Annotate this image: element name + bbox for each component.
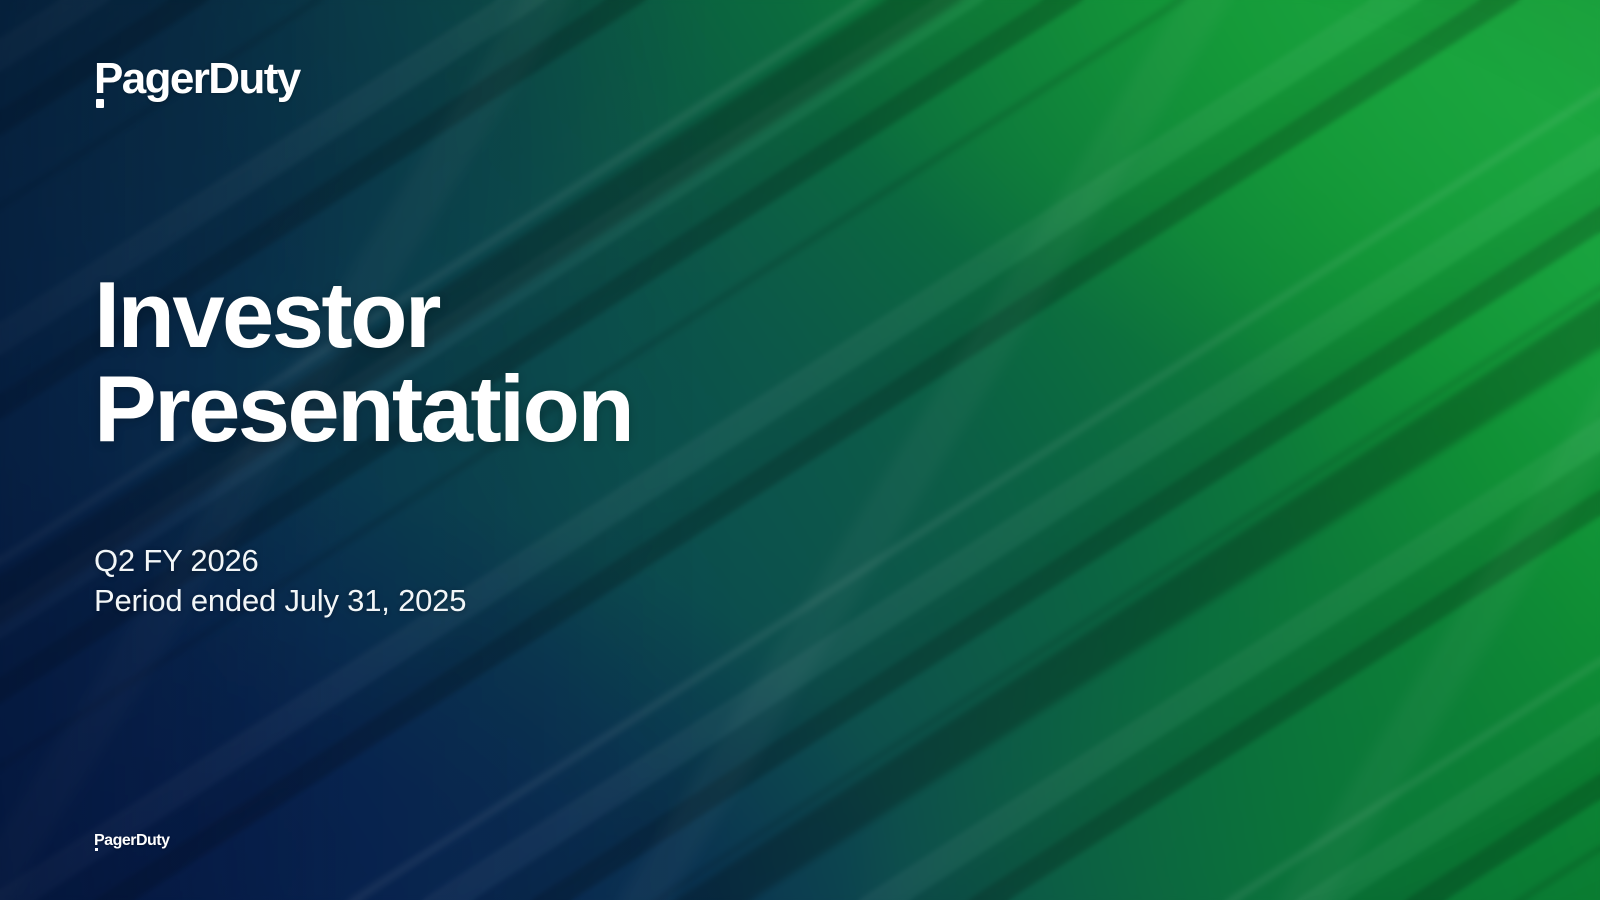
fiscal-period-label: Q2 FY 2026 <box>94 541 466 581</box>
pagerduty-logo-text: PagerDuty <box>94 57 300 101</box>
page-title-line-1: Investor <box>94 268 632 362</box>
page-title: Investor Presentation <box>94 268 632 456</box>
slide-content: PagerDuty Investor Presentation Q2 FY 20… <box>0 0 1600 900</box>
page-title-line-2: Presentation <box>94 362 632 456</box>
period-ended-label: Period ended July 31, 2025 <box>94 581 466 621</box>
investor-presentation-title-slide: PagerDuty Investor Presentation Q2 FY 20… <box>0 0 1600 900</box>
pagerduty-logo: PagerDuty <box>94 57 300 101</box>
pagerduty-footer-logo-text: PagerDuty <box>94 832 170 849</box>
pagerduty-footer-logo: PagerDuty <box>94 833 170 849</box>
page-subtitle: Q2 FY 2026 Period ended July 31, 2025 <box>94 541 466 620</box>
